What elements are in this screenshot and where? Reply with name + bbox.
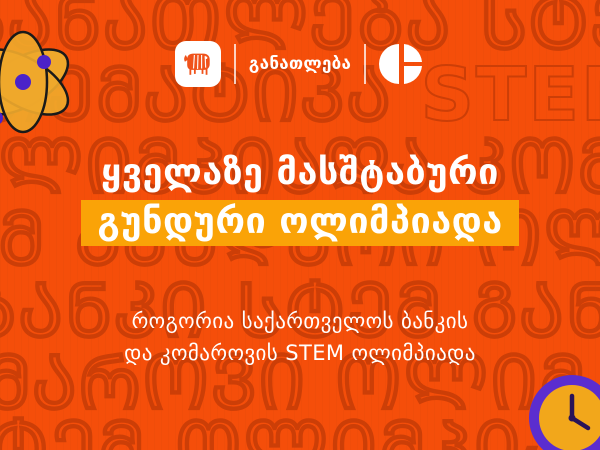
background-pattern-row: ᲡᲢᲔᲛ ᲝᲚᲘᲛᲞᲘᲐᲓᲐ ᲒᲐ ᲡᲢᲔᲛ ᲝᲚᲘᲛᲞᲘᲐᲓᲐ ᲒᲐ ᲡᲢᲔᲛ… xyxy=(0,412,600,450)
logo-divider xyxy=(364,44,366,84)
subtitle-line-1: როგორია საქართველოს ბანკის xyxy=(0,306,600,338)
subtitle-line-2: და კომაროვის STEM ოლიმპიადა xyxy=(0,338,600,370)
komarovi-k-logo-icon xyxy=(379,41,425,87)
headline-line-2-wrapper: გუნდური ოლიმპიადა xyxy=(0,200,600,246)
headline-line-1: ყველაზე მასშტაბური xyxy=(0,152,600,193)
logo-lockup: განათლება xyxy=(0,36,600,92)
clock-icon xyxy=(526,372,600,450)
subtitle: როგორია საქართველოს ბანკის და კომაროვის … xyxy=(0,306,600,370)
ministry-label: განათლება xyxy=(249,54,352,74)
ministry-lion-emblem-icon xyxy=(175,41,221,87)
promo-poster: ᲒᲐᲜᲐᲗᲚᲔᲑᲐ ᲡᲢᲔᲛ ᲝᲚᲘᲛ ᲒᲐᲜᲐᲗᲚᲔᲑᲐ ᲡᲢᲔᲛ ᲝᲚᲘᲛ … xyxy=(0,0,600,450)
headline: ყველაზე მასშტაბური გუნდური ოლიმპიადა xyxy=(0,152,600,246)
headline-line-2: გუნდური ოლიმპიადა xyxy=(81,200,518,246)
logo-divider xyxy=(234,44,236,84)
